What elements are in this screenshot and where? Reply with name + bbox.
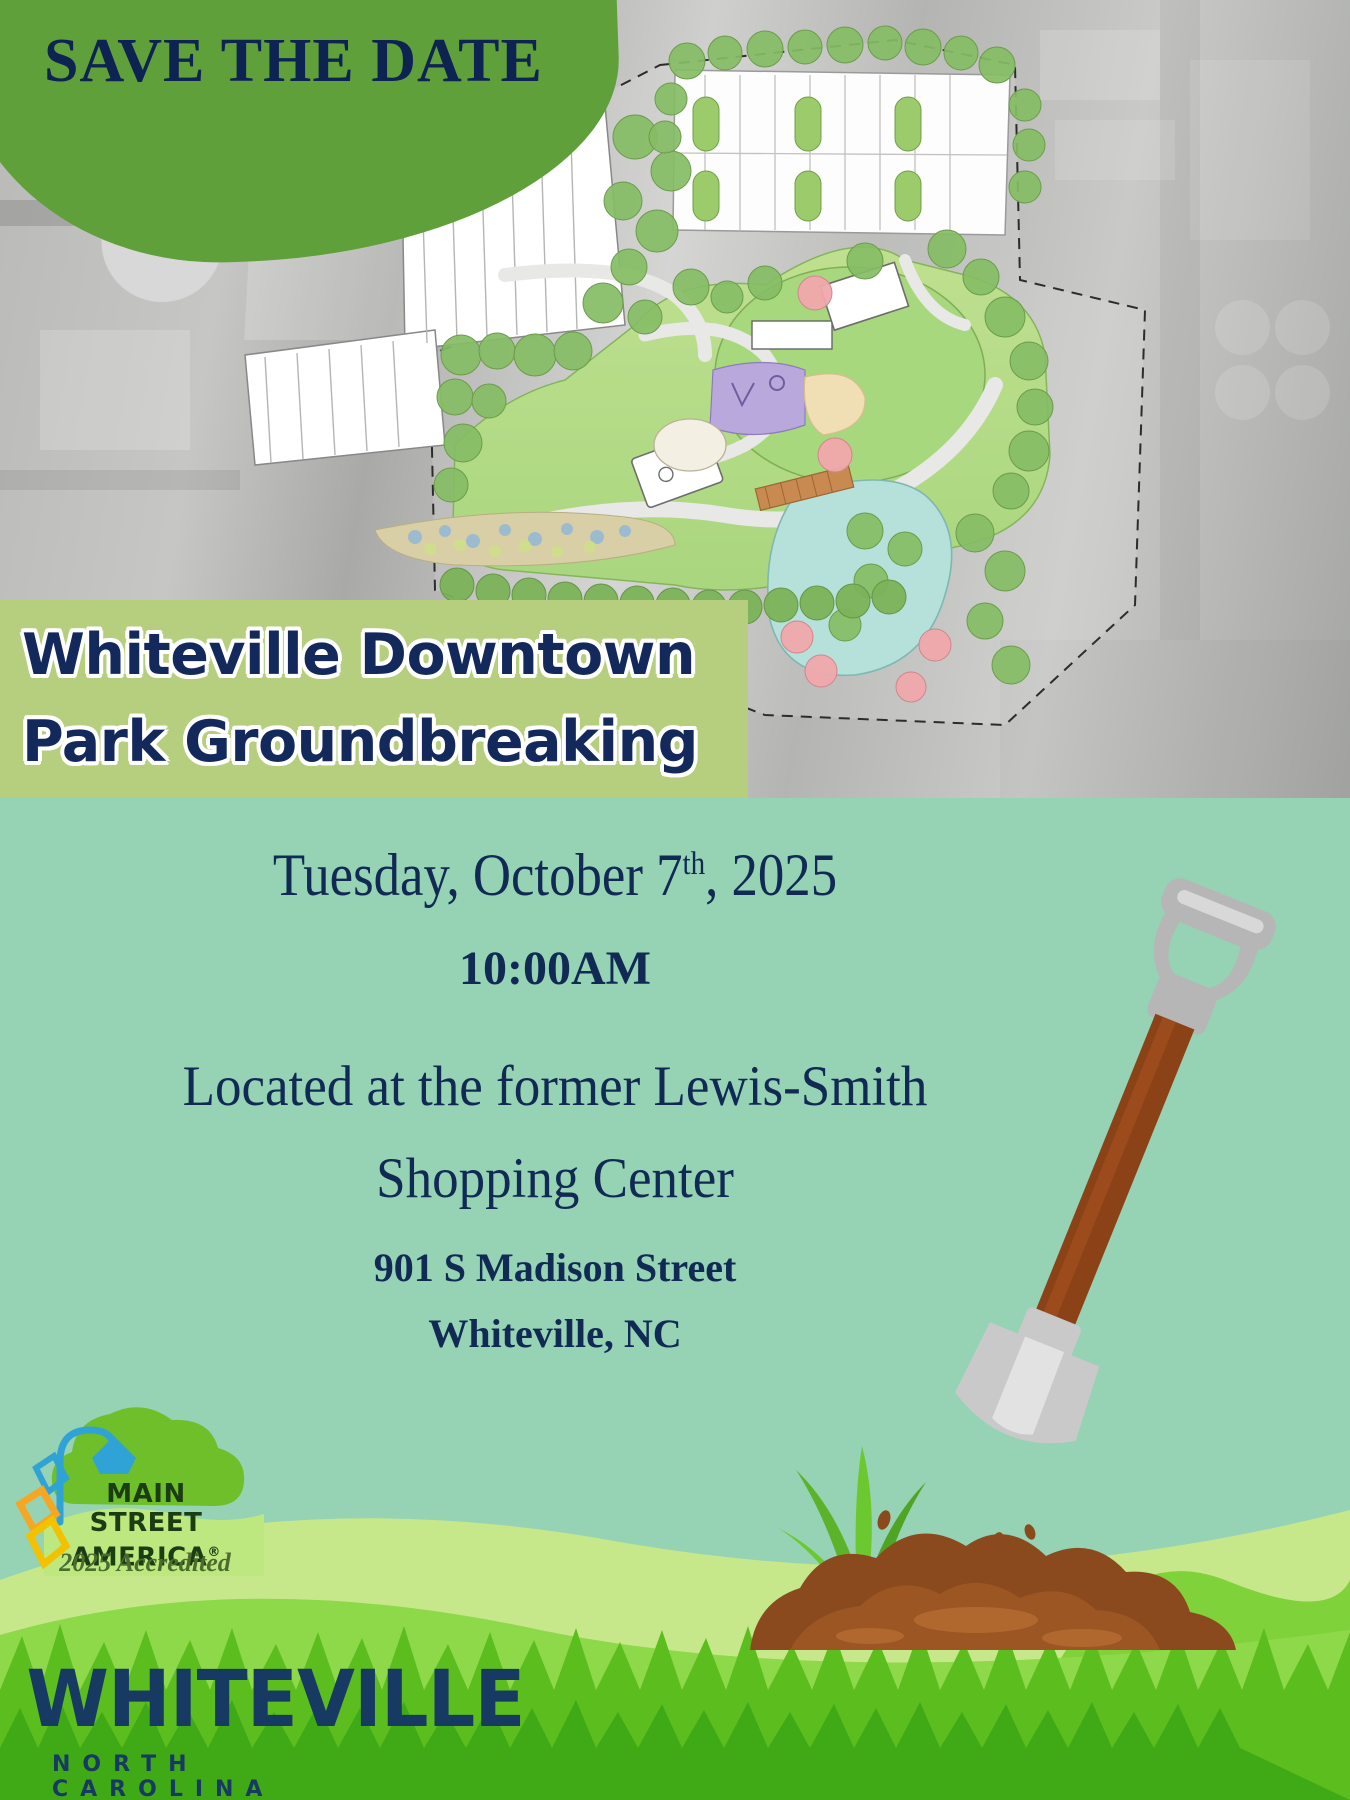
title-line-1: Whiteville Downtown — [22, 612, 752, 699]
page-title: Whiteville Downtown Park Groundbreaking — [22, 612, 752, 786]
event-date-text: Tuesday, October 7 — [273, 842, 683, 908]
event-year: , 2025 — [705, 842, 837, 908]
msa-accredited-label: 2025 Accredited — [40, 1548, 250, 1578]
city-state-label: NORTH CAROLINA — [52, 1752, 412, 1800]
shovel-icon — [880, 860, 1350, 1480]
city-wordmark: WHITEVILLE — [26, 1660, 429, 1740]
save-the-date-poster: SAVE THE DATE Whiteville Downtown Park G… — [0, 0, 1350, 1800]
eyebrow-save-the-date: SAVE THE DATE — [44, 26, 543, 97]
date-ordinal: th — [683, 846, 706, 882]
title-line-2: Park Groundbreaking — [22, 699, 752, 786]
msa-line-1: MAIN STREET — [56, 1480, 236, 1538]
